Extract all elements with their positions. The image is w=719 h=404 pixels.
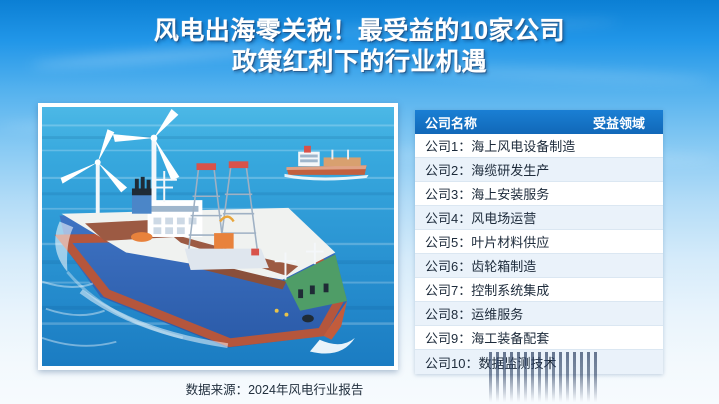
cell-separator: ：: [458, 256, 471, 275]
cell-benefit-area: 海缆研发生产: [471, 160, 549, 179]
cell-company-name: 公司6: [425, 256, 458, 275]
table-row: 公司6：齿轮箱制造: [415, 254, 663, 278]
cell-benefit-area: 控制系统集成: [471, 280, 549, 299]
cell-benefit-area: 齿轮箱制造: [471, 256, 536, 275]
cell-separator: ：: [465, 353, 478, 372]
table-row: 公司1：海上风电设备制造: [415, 134, 663, 158]
data-source-text: 数据来源：2024年风电行业报告: [186, 383, 534, 397]
cell-benefit-area: 数据监测技术: [478, 353, 556, 372]
title-line-1: 风电出海零关税！最受益的10家公司: [0, 16, 719, 47]
table-row: 公司7：控制系统集成: [415, 278, 663, 302]
table-row: 公司2：海缆研发生产: [415, 158, 663, 182]
cell-separator: ：: [458, 280, 471, 299]
cell-company-name: 公司3: [425, 184, 458, 203]
table-header-row: 公司名称 受益领域: [415, 110, 663, 134]
offshore-wind-illustration: [38, 103, 398, 370]
table-row: 公司8：运维服务: [415, 302, 663, 326]
cell-benefit-area: 海上安装服务: [471, 184, 549, 203]
cell-company-name: 公司4: [425, 208, 458, 227]
cell-benefit-area: 叶片材料供应: [471, 232, 549, 251]
cell-company-name: 公司7: [425, 280, 458, 299]
cell-separator: ：: [458, 232, 471, 251]
cell-separator: ：: [458, 208, 471, 227]
cell-separator: ：: [458, 184, 471, 203]
column-header-benefit-area: 受益领域: [593, 113, 653, 132]
cell-company-name: 公司8: [425, 304, 458, 323]
cell-benefit-area: 运维服务: [471, 304, 523, 323]
table-row: 公司10：数据监测技术: [415, 350, 663, 374]
cell-separator: ：: [458, 160, 471, 179]
table-row: 公司4：风电场运营: [415, 206, 663, 230]
table-row: 公司3：海上安装服务: [415, 182, 663, 206]
benefit-table: 公司名称 受益领域 公司1：海上风电设备制造公司2：海缆研发生产公司3：海上安装…: [415, 110, 663, 374]
cell-company-name: 公司5: [425, 232, 458, 251]
cell-company-name: 公司2: [425, 160, 458, 179]
cell-benefit-area: 风电场运营: [471, 208, 536, 227]
cell-benefit-area: 海上风电设备制造: [471, 136, 575, 155]
data-source-note: 数据来源：2024年风电行业报告: [0, 379, 719, 398]
table-row: 公司5：叶片材料供应: [415, 230, 663, 254]
cell-company-name: 公司10: [425, 353, 465, 372]
title-line-2: 政策红利下的行业机遇: [0, 47, 719, 78]
cell-separator: ：: [458, 136, 471, 155]
table-body: 公司1：海上风电设备制造公司2：海缆研发生产公司3：海上安装服务公司4：风电场运…: [415, 134, 663, 374]
illustration-svg: [42, 107, 394, 366]
cell-benefit-area: 海工装备配套: [471, 328, 549, 347]
slide-canvas: 风电出海零关税！最受益的10家公司 政策红利下的行业机遇: [0, 0, 719, 404]
table-row: 公司9：海工装备配套: [415, 326, 663, 350]
cell-separator: ：: [458, 328, 471, 347]
cell-company-name: 公司1: [425, 136, 458, 155]
cell-separator: ：: [458, 304, 471, 323]
cell-company-name: 公司9: [425, 328, 458, 347]
page-title: 风电出海零关税！最受益的10家公司 政策红利下的行业机遇: [0, 16, 719, 77]
column-header-company-name: 公司名称: [425, 113, 477, 132]
